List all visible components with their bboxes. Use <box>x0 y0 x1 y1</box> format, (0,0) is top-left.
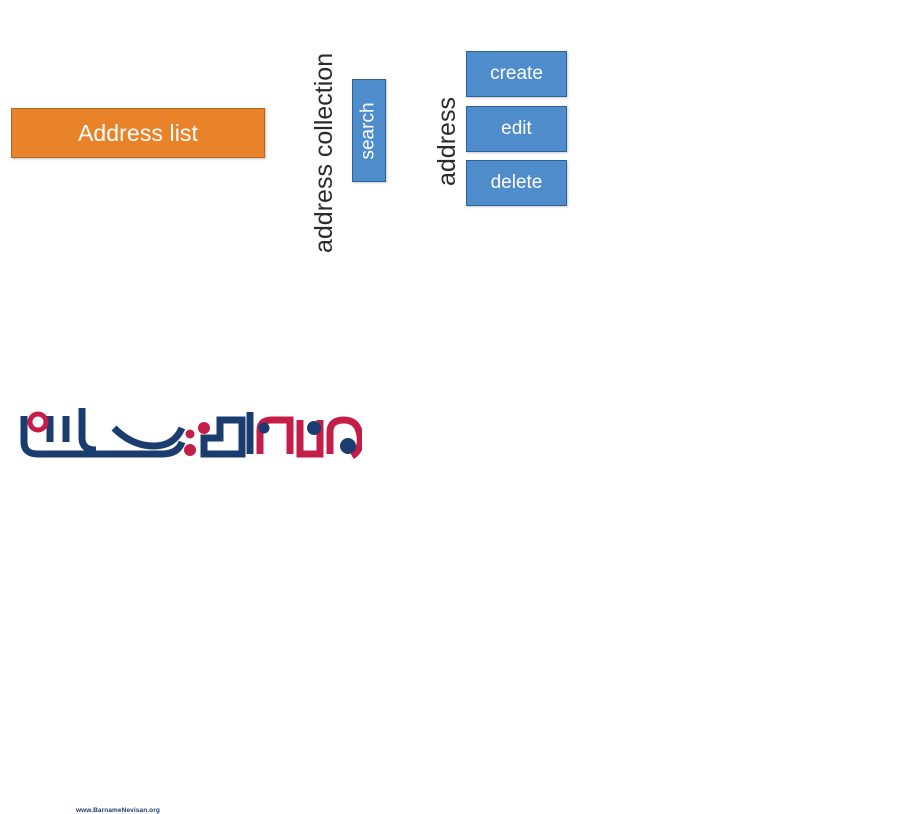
node-address-list-label: Address list <box>78 120 198 147</box>
group-label-address: address <box>435 97 460 186</box>
barnamenevisan-logo: www.BarnameNevisan.org <box>14 398 362 460</box>
barnamenevisan-logo-icon <box>14 398 362 460</box>
node-delete[interactable]: delete <box>466 160 567 206</box>
node-create[interactable]: create <box>466 51 567 97</box>
node-create-label: create <box>490 63 543 85</box>
group-label-address-collection: address collection <box>312 53 337 253</box>
node-address-list[interactable]: Address list <box>11 108 265 158</box>
logo-dot-red-left <box>30 414 46 430</box>
node-edit[interactable]: edit <box>466 106 567 152</box>
node-search[interactable]: search <box>352 79 386 182</box>
logo-url-text: www.BarnameNevisan.org <box>76 807 160 814</box>
diagram-canvas: Address list address collection search a… <box>0 0 908 466</box>
node-delete-label: delete <box>491 172 543 194</box>
node-search-label: search <box>358 102 380 159</box>
node-edit-label: edit <box>501 118 532 140</box>
